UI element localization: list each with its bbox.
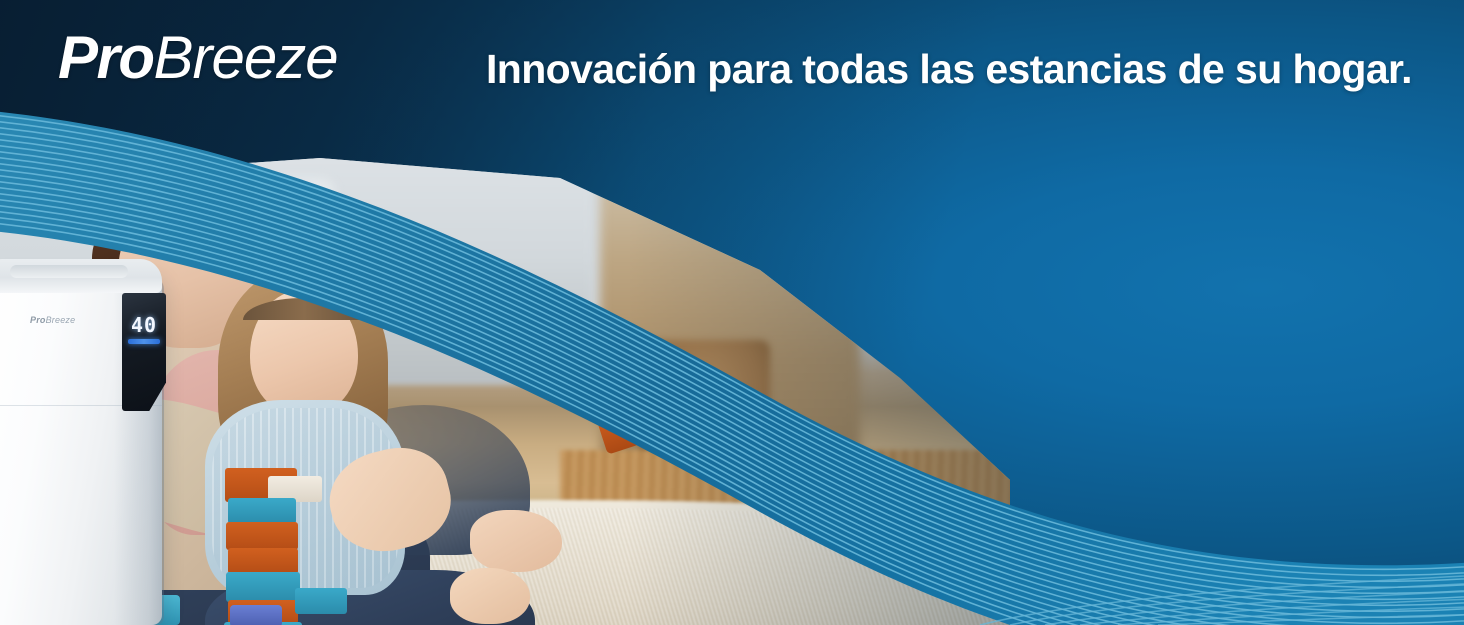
toy-brick xyxy=(228,548,298,574)
device-display-panel[interactable] xyxy=(122,293,166,411)
device-handle xyxy=(10,265,128,278)
device-brand-label: ProBreeze xyxy=(30,315,75,325)
toy-brick xyxy=(226,522,298,550)
toy-brick xyxy=(228,498,296,524)
pro-breeze-hero-banner: ProBreeze 40 xyxy=(0,0,1464,625)
logo-text-pro: Pro xyxy=(58,24,154,91)
headline-text: Innovación para todas las estancias de s… xyxy=(486,46,1412,93)
device-display-value: 40 xyxy=(125,313,163,337)
toy-brick-loose xyxy=(230,605,282,625)
logo-text-breeze: Breeze xyxy=(154,24,338,91)
device-brand-breeze: Breeze xyxy=(46,315,76,325)
woven-basket xyxy=(640,340,770,465)
dehumidifier-product: ProBreeze 40 xyxy=(0,255,172,625)
device-humidity-bar xyxy=(128,339,160,344)
brand-logo[interactable]: ProBreeze xyxy=(58,28,338,88)
toy-brick xyxy=(226,572,300,602)
girl-foot xyxy=(450,568,530,624)
device-brand-pro: Pro xyxy=(30,315,46,325)
mother-foot xyxy=(470,510,562,572)
toy-brick xyxy=(295,588,347,614)
